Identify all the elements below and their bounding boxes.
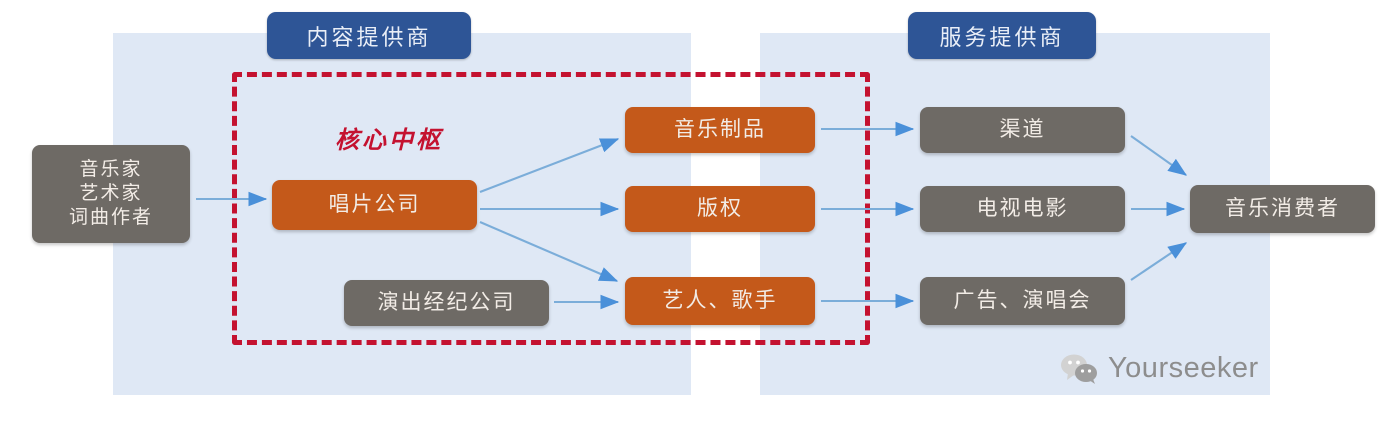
node-creators-line-3: 词曲作者 (69, 206, 153, 230)
node-music-consumer: 音乐消费者 (1190, 185, 1375, 233)
watermark-text: Yourseeker (1108, 352, 1259, 385)
header-service-provider: 服务提供商 (908, 12, 1096, 59)
node-record-company: 唱片公司 (272, 180, 477, 230)
node-ads-concert-label: 广告、演唱会 (954, 288, 1092, 315)
diagram-canvas: 内容提供商 服务提供商 核心中枢 音乐家 艺术家 词曲作者 唱片公司 演出经纪公… (0, 0, 1397, 427)
node-artist-singer-label: 艺人、歌手 (663, 288, 778, 315)
node-performance-agency: 演出经纪公司 (344, 280, 549, 326)
node-artist-singer: 艺人、歌手 (625, 277, 815, 325)
node-record-company-label: 唱片公司 (329, 192, 421, 219)
node-copyright: 版权 (625, 186, 815, 232)
node-creators-line-2: 艺术家 (79, 182, 142, 206)
node-ads-concert: 广告、演唱会 (920, 277, 1125, 325)
wechat-icon (1060, 353, 1098, 385)
node-creators-line-1: 音乐家 (79, 158, 142, 182)
node-channel-label: 渠道 (1000, 117, 1046, 144)
node-performance-agency-label: 演出经纪公司 (378, 290, 516, 317)
node-tv-film: 电视电影 (920, 186, 1125, 232)
node-creators: 音乐家 艺术家 词曲作者 (32, 145, 190, 243)
node-channel: 渠道 (920, 107, 1125, 153)
node-music-product: 音乐制品 (625, 107, 815, 153)
node-tv-film-label: 电视电影 (977, 196, 1069, 223)
header-content-provider: 内容提供商 (267, 12, 471, 59)
watermark: Yourseeker (1060, 352, 1259, 385)
node-copyright-label: 版权 (697, 196, 743, 223)
node-music-product-label: 音乐制品 (674, 117, 766, 144)
node-music-consumer-label: 音乐消费者 (1225, 196, 1340, 223)
core-hub-annotation: 核心中枢 (335, 120, 443, 155)
